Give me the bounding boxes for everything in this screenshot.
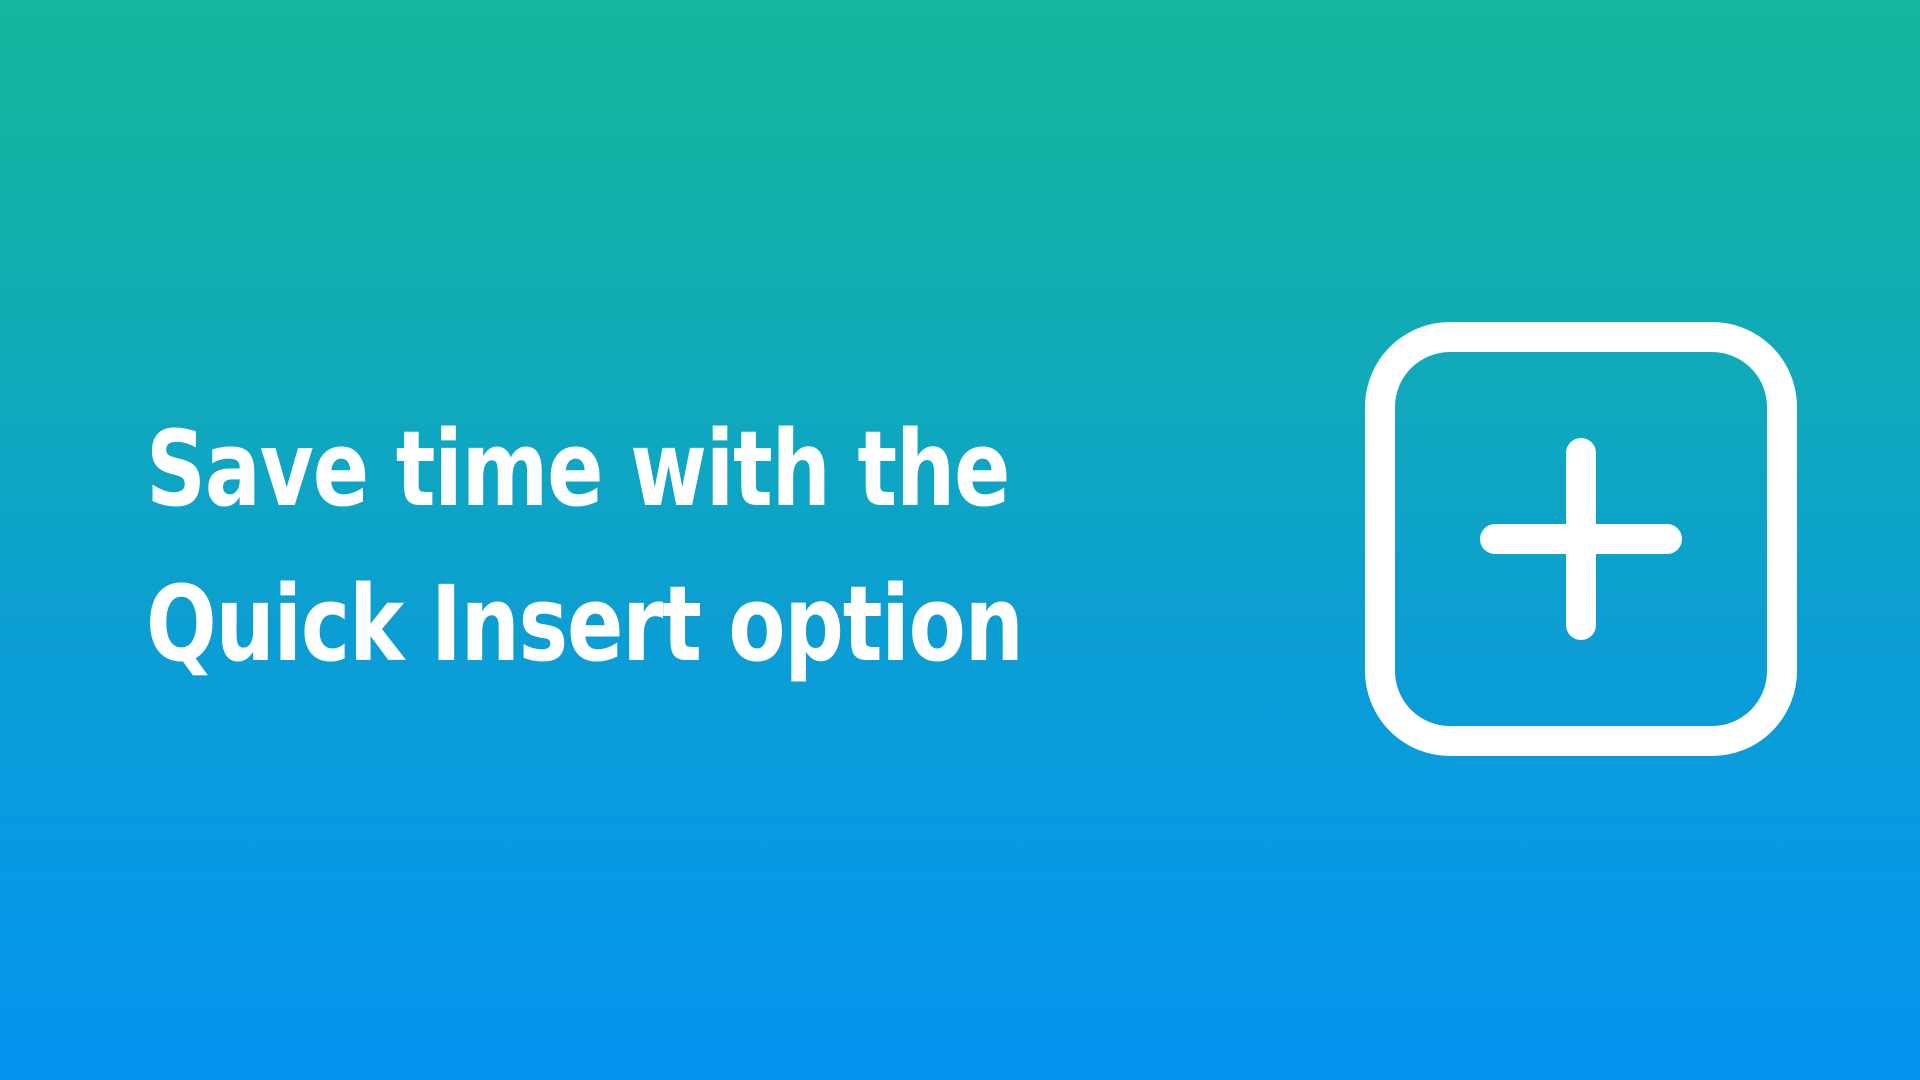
headline: Save time with the Quick Insert option <box>146 392 994 702</box>
headline-line-2: Quick Insert option <box>146 547 994 702</box>
plus-square-icon <box>1365 322 1797 756</box>
promo-slide: Save time with the Quick Insert option <box>0 0 1920 1080</box>
plus-square-icon-svg <box>1365 322 1797 756</box>
headline-line-1: Save time with the <box>146 392 994 547</box>
